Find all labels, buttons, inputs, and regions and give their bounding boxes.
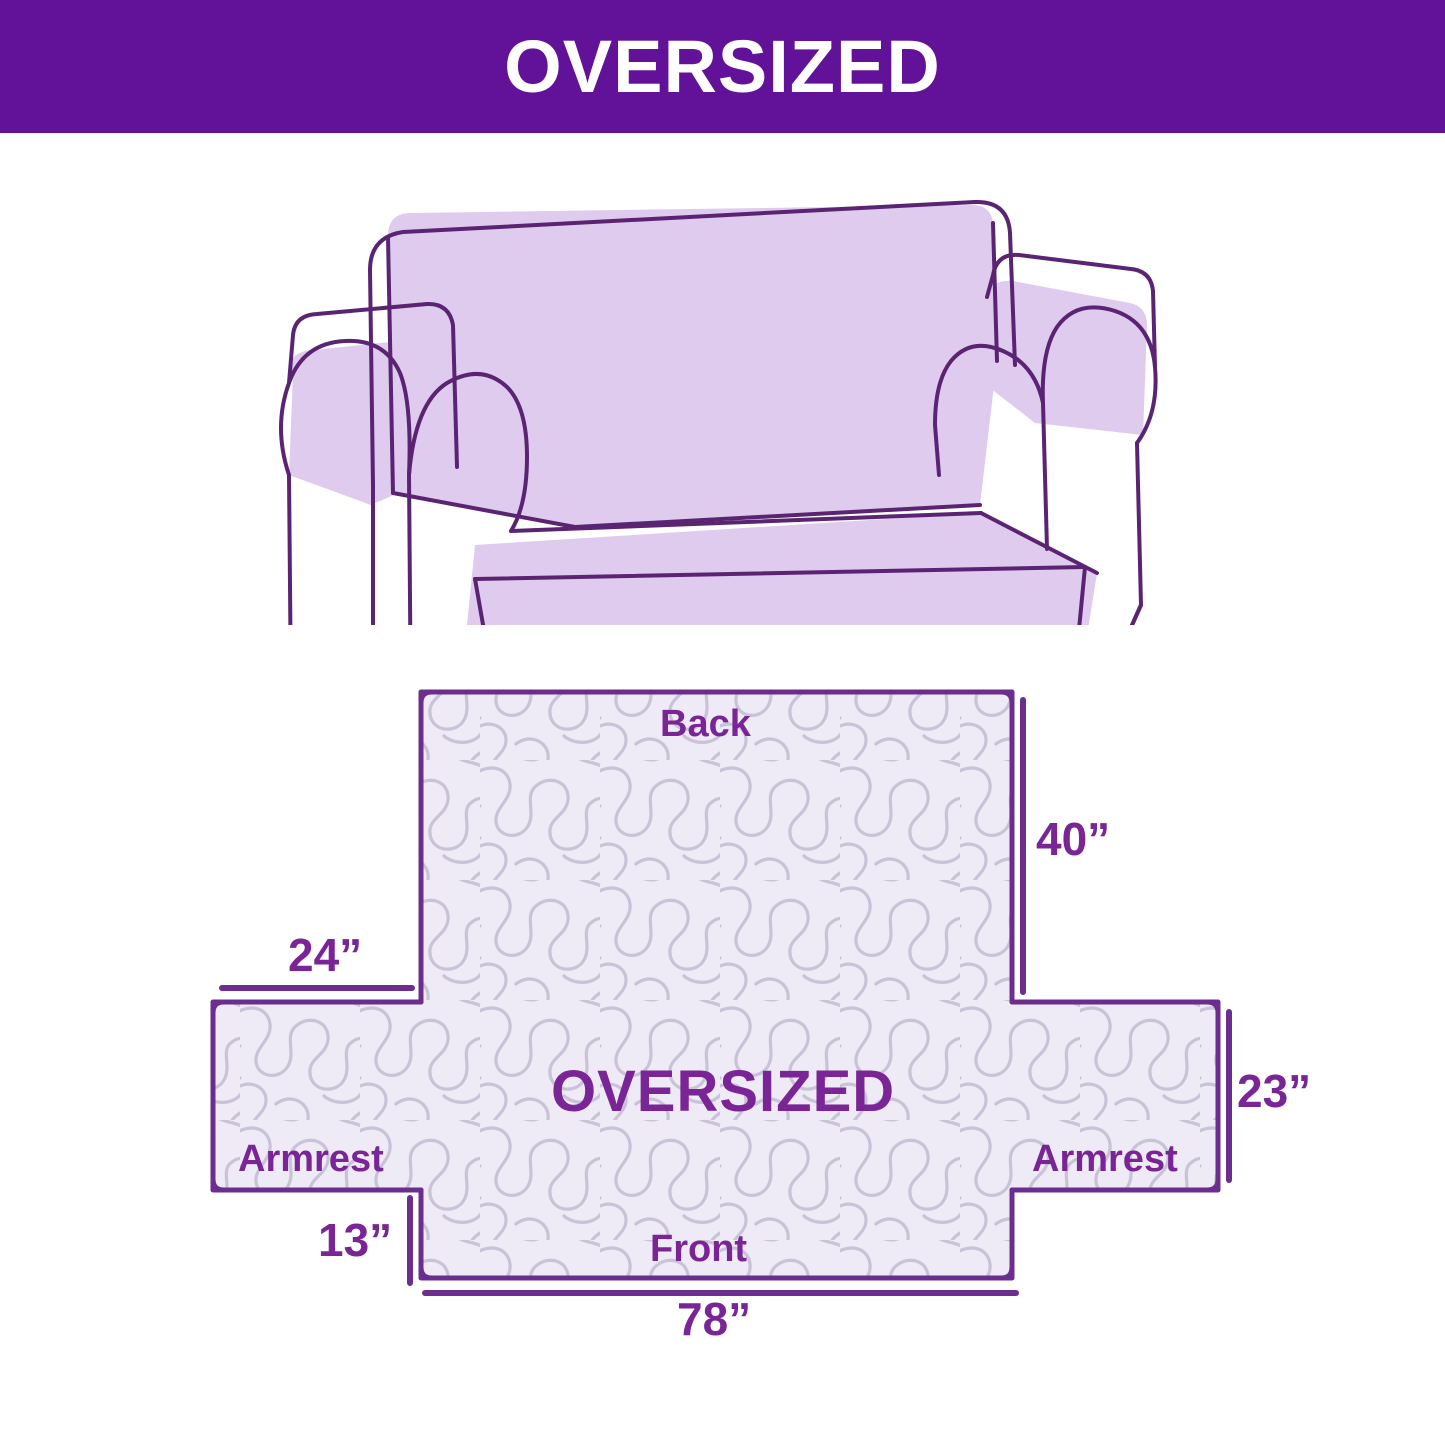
dimension-label-armrest-depth: 23”: [1237, 1064, 1311, 1118]
label-armrest-left: Armrest: [238, 1138, 384, 1181]
dimension-label-back-to-arm: 24”: [288, 928, 362, 982]
center-size-label: OVERSIZED: [551, 1058, 895, 1125]
header-banner: OVERSIZED: [0, 0, 1445, 133]
dimension-label-back-height: 40”: [1036, 812, 1110, 866]
sofa-illustration: [275, 175, 1185, 625]
product-size-infographic: OVERSIZED: [0, 0, 1445, 1445]
label-back: Back: [660, 703, 751, 746]
label-armrest-right: Armrest: [1032, 1138, 1178, 1181]
page-title: OVERSIZED: [504, 30, 941, 104]
dimension-label-front-skirt: 13”: [318, 1213, 392, 1267]
dimension-label-overall-width: 78”: [677, 1292, 751, 1346]
label-front: Front: [650, 1228, 747, 1271]
